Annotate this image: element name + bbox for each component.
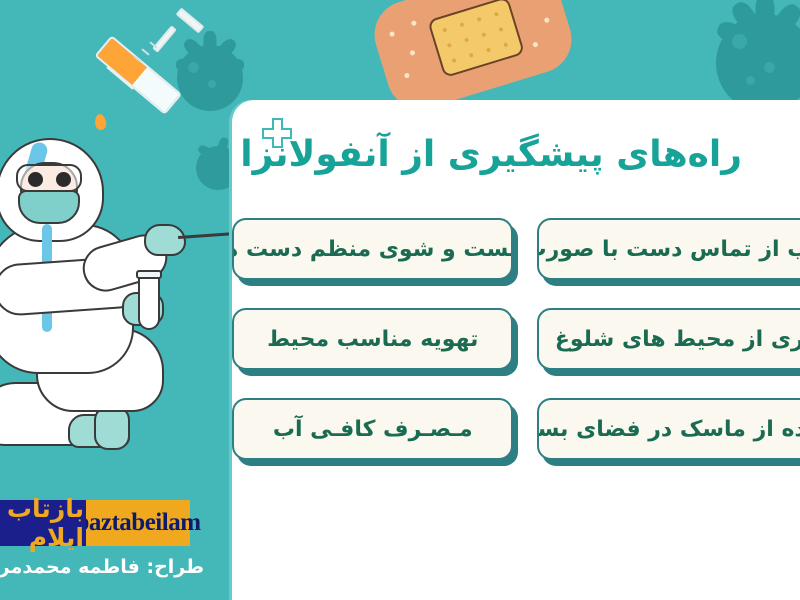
logo-persian-text: بازتاب ایلام — [0, 500, 86, 546]
prevention-tips-grid: اجتناب از تماس دست با صورت شست و شوی منظ… — [232, 218, 800, 488]
publisher-logo[interactable]: baztabeilam بازتاب ایلام — [0, 500, 190, 546]
tip-card-label: اجتناب از تماس دست با صورت — [537, 237, 800, 262]
tip-card-label: شست و شوی منظم دست ها — [232, 237, 513, 262]
tip-card-label: استفاده از ماسک در فضای بسته — [537, 417, 800, 442]
ppe-healthcare-worker-illustration — [0, 120, 242, 490]
tips-row: دوری از محیط های شلوغ تهویه مناسب محیط — [232, 308, 778, 370]
tips-row: اجتناب از تماس دست با صورت شست و شوی منظ… — [232, 218, 778, 280]
tip-card-wear-mask-indoors[interactable]: استفاده از ماسک در فضای بسته — [537, 398, 800, 460]
content-panel: راه‌های پیشگیری از آنفولانزا اجتناب از ت… — [232, 100, 800, 600]
tip-card-ventilation[interactable]: تهویه مناسب محیط — [232, 308, 513, 370]
designer-credit: طراح: فاطمه محمدمرادی — [0, 556, 204, 578]
page-title: راه‌های پیشگیری از آنفولانزا — [240, 134, 742, 175]
tip-card-label: دوری از محیط های شلوغ — [555, 327, 800, 352]
tip-card-avoid-crowds[interactable]: دوری از محیط های شلوغ — [537, 308, 800, 370]
tip-card-avoid-face-touch[interactable]: اجتناب از تماس دست با صورت — [537, 218, 800, 280]
panel-header: راه‌های پیشگیری از آنفولانزا — [232, 100, 800, 188]
syringe-icon — [75, 10, 225, 145]
tip-card-label: مـصـرف کافـی آب — [273, 417, 473, 442]
tip-card-label: تهویه مناسب محیط — [267, 327, 478, 352]
tip-card-drink-water[interactable]: مـصـرف کافـی آب — [232, 398, 513, 460]
tips-row: استفاده از ماسک در فضای بسته مـصـرف کافـ… — [232, 398, 778, 460]
infographic-canvas: راه‌های پیشگیری از آنفولانزا اجتناب از ت… — [0, 0, 800, 600]
tip-card-handwashing[interactable]: شست و شوی منظم دست ها — [232, 218, 513, 280]
logo-latin-text: baztabeilam — [86, 500, 190, 546]
